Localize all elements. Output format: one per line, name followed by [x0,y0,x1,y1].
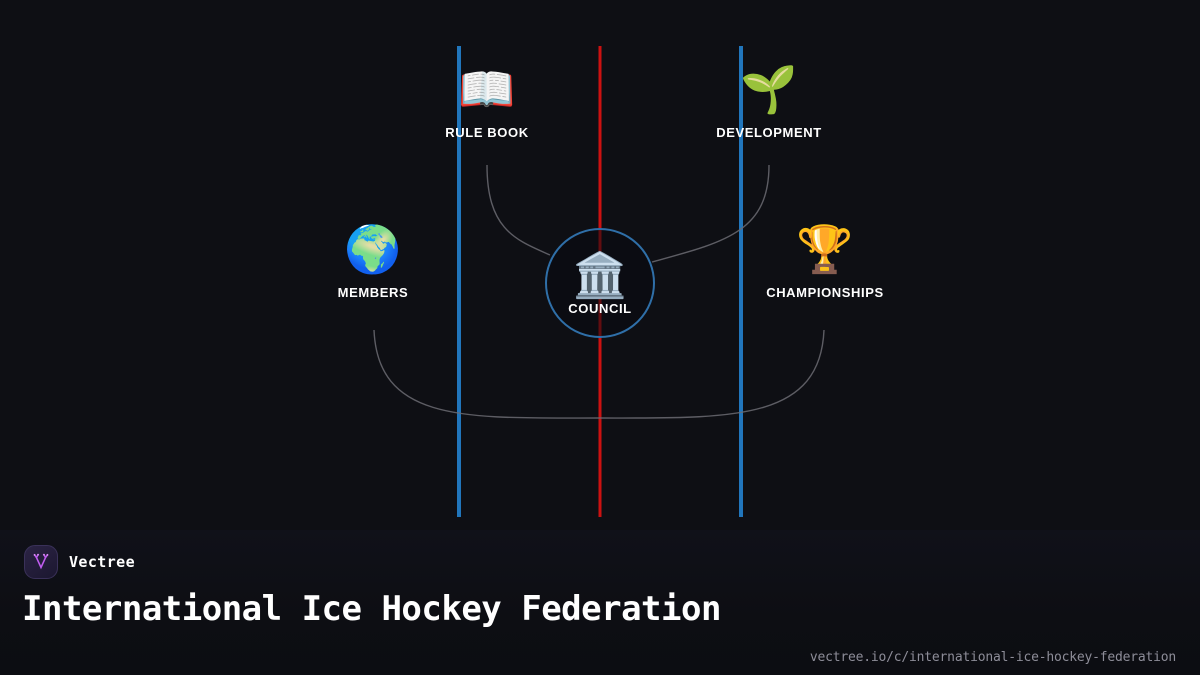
graph-node-championships[interactable]: 🏆 CHAMPIONSHIPS [740,226,910,300]
trophy-icon: 🏆 [740,226,910,278]
brand[interactable]: Vectree [24,545,135,579]
graph-node-rule-book[interactable]: 📖 RULE BOOK [402,66,572,140]
graph-node-members[interactable]: 🌍 MEMBERS [288,226,458,300]
open-book-icon: 📖 [402,66,572,118]
globe-europe-africa-icon: 🌍 [288,226,458,278]
graph-node-label: COUNCIL [568,301,631,316]
graph-canvas[interactable]: 📖 RULE BOOK 🌱 DEVELOPMENT 🌍 MEMBERS 🏆 CH… [0,0,1200,530]
seedling-icon: 🌱 [684,66,854,118]
brand-name: Vectree [69,553,135,571]
vectree-graph-page: 📖 RULE BOOK 🌱 DEVELOPMENT 🌍 MEMBERS 🏆 CH… [0,0,1200,675]
vectree-logo-icon [24,545,58,579]
page-title: International Ice Hockey Federation [22,592,762,626]
graph-node-development[interactable]: 🌱 DEVELOPMENT [684,66,854,140]
classical-building-icon: 🏛️ [573,249,628,297]
page-footer: Vectree International Ice Hockey Federat… [0,530,1200,675]
graph-node-council[interactable]: 🏛️ COUNCIL [545,228,655,338]
graph-node-label: MEMBERS [288,285,458,300]
graph-node-label: CHAMPIONSHIPS [740,285,910,300]
graph-node-label: RULE BOOK [402,125,572,140]
page-url: vectree.io/c/international-ice-hockey-fe… [810,650,1176,665]
graph-node-label: DEVELOPMENT [684,125,854,140]
